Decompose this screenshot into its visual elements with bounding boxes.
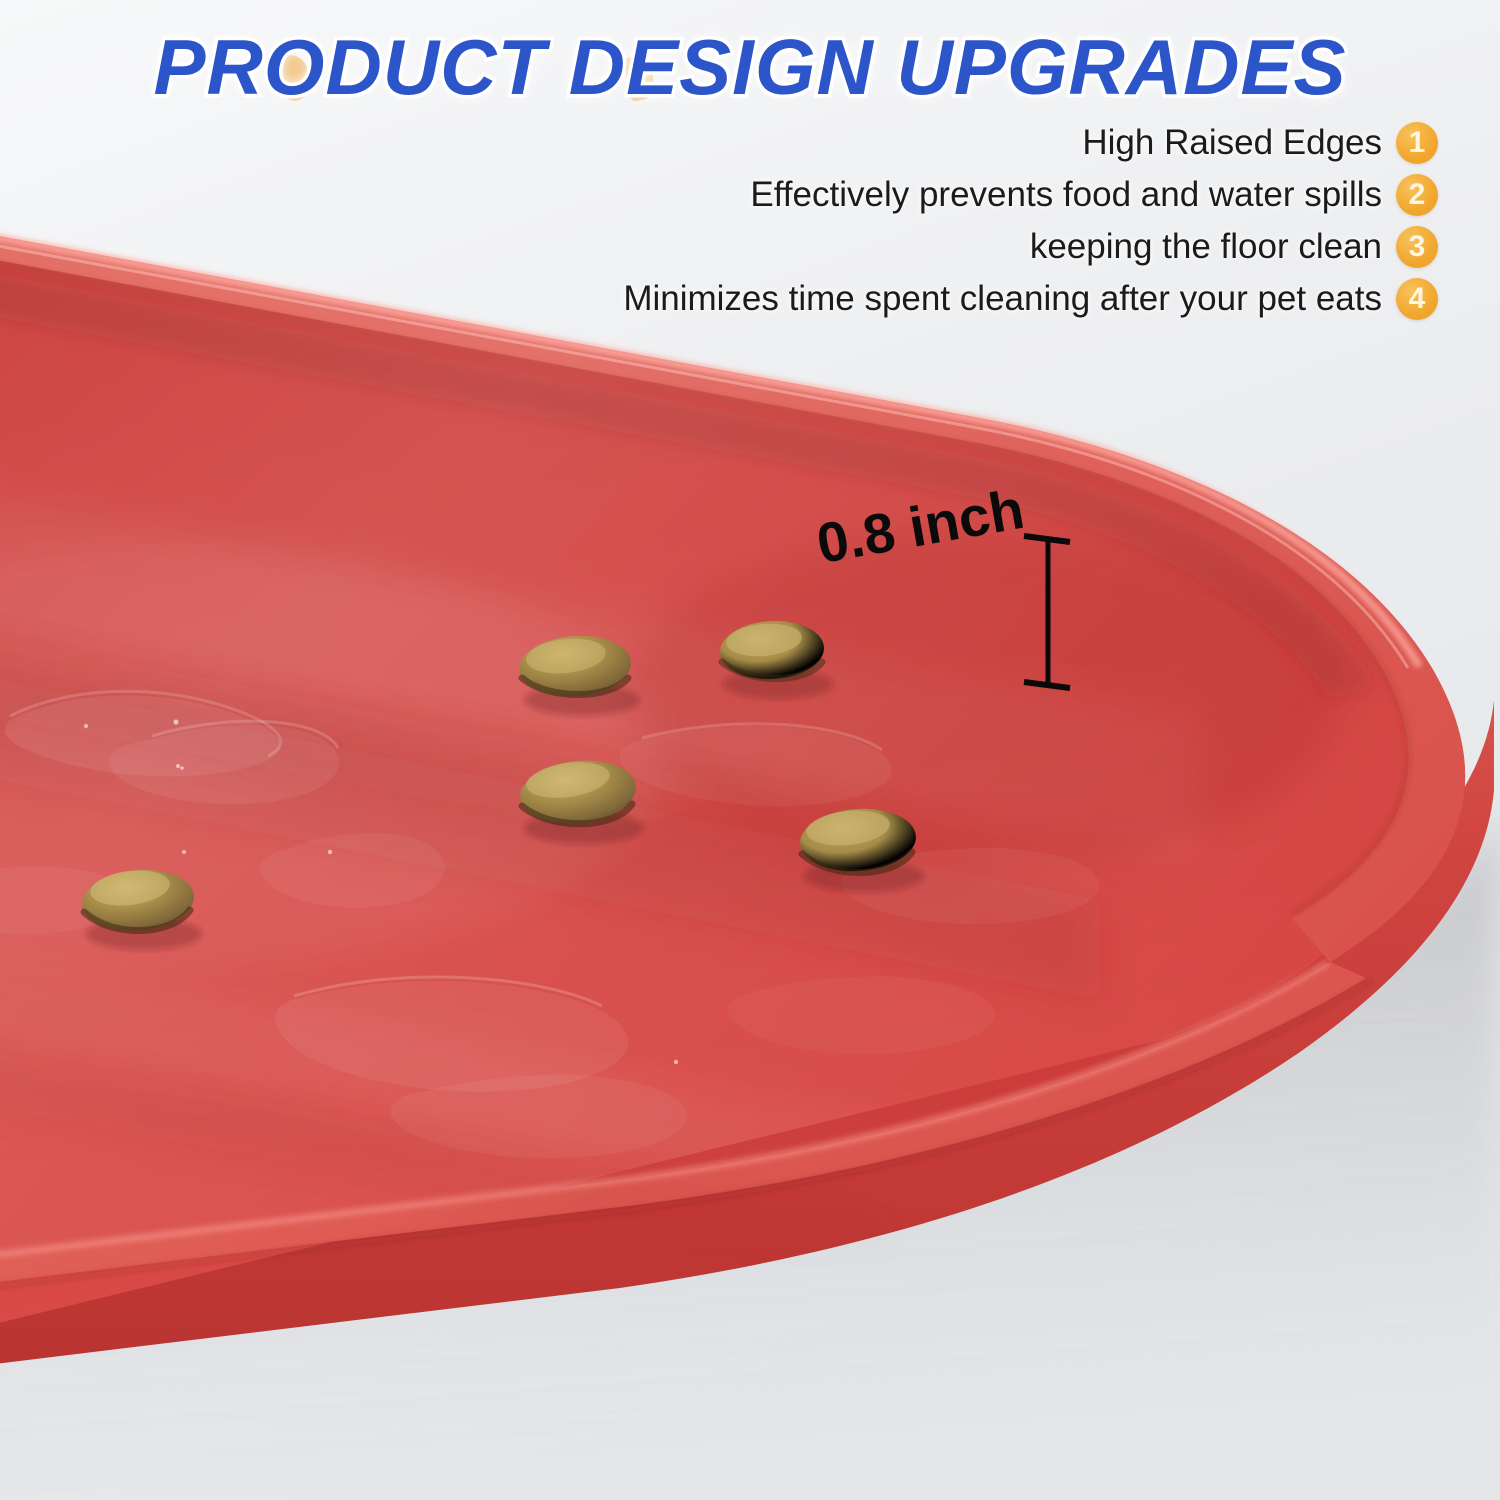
page-title: PRODUCT DESIGN UPGRADES <box>0 22 1500 113</box>
feature-label: High Raised Edges <box>1082 123 1382 163</box>
feature-number-badge: 3 <box>1396 226 1438 268</box>
feature-item: Minimizes time spent cleaning after your… <box>623 278 1438 320</box>
feature-number-badge: 4 <box>1396 278 1438 320</box>
dimension-cap-top <box>1024 536 1070 542</box>
product-infographic: PRODUCT DESIGN UPGRADES High Raised Edge… <box>0 0 1500 1500</box>
feature-label: keeping the floor clean <box>1030 227 1382 267</box>
feature-item: High Raised Edges 1 <box>1082 122 1438 164</box>
dimension-line-icon <box>1018 532 1074 692</box>
dimension-cap-bottom <box>1024 682 1070 688</box>
feature-item: keeping the floor clean 3 <box>1030 226 1438 268</box>
feature-list: High Raised Edges 1 Effectively prevents… <box>623 122 1438 320</box>
feature-label: Effectively prevents food and water spil… <box>750 175 1382 215</box>
feature-label: Minimizes time spent cleaning after your… <box>623 279 1382 319</box>
feature-item: Effectively prevents food and water spil… <box>750 174 1438 216</box>
feature-number-badge: 1 <box>1396 122 1438 164</box>
feature-number-badge: 2 <box>1396 174 1438 216</box>
